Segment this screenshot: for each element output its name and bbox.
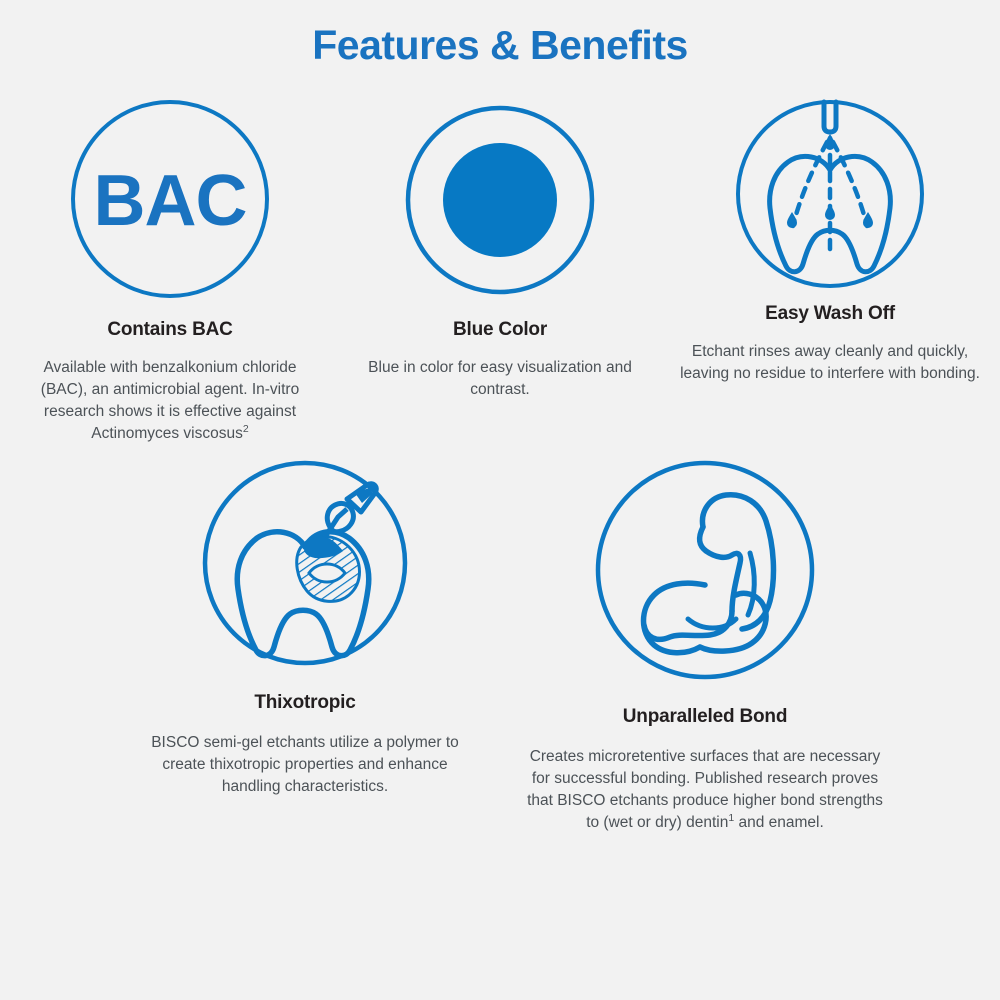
svg-text:BAC: BAC xyxy=(94,161,247,241)
feature-description: Blue in color for easy visualization and… xyxy=(345,357,655,401)
feature-unparalleled-bond: Unparalleled Bond Creates microretentive… xyxy=(490,455,910,834)
feature-title: Blue Color xyxy=(453,319,547,341)
feature-contains-bac: BAC Contains BAC Available with benzalko… xyxy=(5,94,335,445)
bac-circle-icon: BAC xyxy=(65,94,275,309)
page-title: Features & Benefits xyxy=(0,0,1000,76)
feature-description-text: Creates microretentive surfaces that are… xyxy=(527,748,883,831)
feature-title: Unparalleled Bond xyxy=(623,706,787,728)
feature-description-text-tail: and enamel. xyxy=(734,814,824,831)
tooth-applicator-icon xyxy=(197,455,413,676)
tooth-rinse-icon xyxy=(730,94,930,299)
footnote-marker: 2 xyxy=(243,423,249,435)
feature-description-text: Blue in color for easy visualization and… xyxy=(368,359,632,398)
feature-thixotropic: Thixotropic BISCO semi-gel etchants util… xyxy=(90,455,490,798)
feature-title: Contains BAC xyxy=(107,319,232,341)
feature-description: BISCO semi-gel etchants utilize a polyme… xyxy=(138,732,473,798)
flexed-bicep-icon xyxy=(590,455,820,690)
features-row-top: BAC Contains BAC Available with benzalko… xyxy=(0,76,1000,445)
feature-description-text: Etchant rinses away cleanly and quickly,… xyxy=(680,343,980,382)
features-benefits-page: Features & Benefits BAC Contains BAC Ava… xyxy=(0,0,1000,1000)
feature-easy-wash-off: Easy Wash Off Etchant rinses away cleanl… xyxy=(665,94,995,385)
feature-description-text: Available with benzalkonium chloride (BA… xyxy=(41,359,299,442)
feature-description: Creates microretentive surfaces that are… xyxy=(520,746,890,834)
feature-blue-color: Blue Color Blue in color for easy visual… xyxy=(335,94,665,401)
feature-description: Available with benzalkonium chloride (BA… xyxy=(20,357,320,445)
feature-title: Easy Wash Off xyxy=(765,303,895,325)
filled-blue-dot-icon xyxy=(400,100,600,305)
features-row-bottom: Thixotropic BISCO semi-gel etchants util… xyxy=(0,445,1000,834)
feature-title: Thixotropic xyxy=(254,692,355,714)
feature-description-text: BISCO semi-gel etchants utilize a polyme… xyxy=(151,734,459,795)
feature-description: Etchant rinses away cleanly and quickly,… xyxy=(680,341,980,385)
